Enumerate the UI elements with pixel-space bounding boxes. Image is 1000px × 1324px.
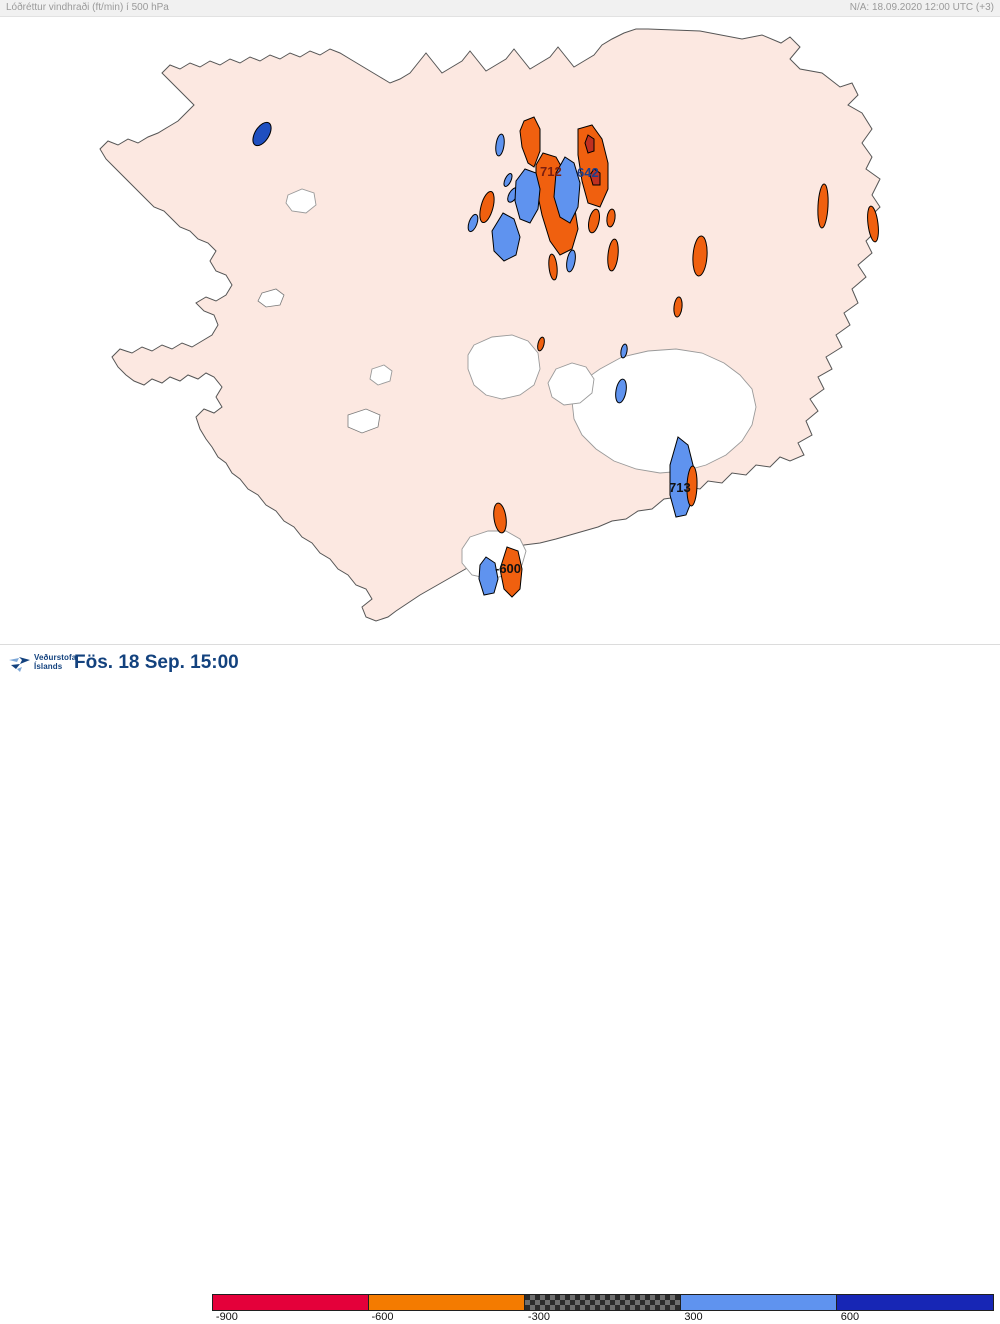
legend-tick-600: 600 [841, 1311, 859, 1323]
color-legend[interactable]: -900-600-300300600 [212, 1294, 994, 1322]
blob-label-m600: -600 [495, 561, 521, 576]
logo-text-line2: Íslands [34, 662, 76, 671]
legend-segment-band-lightblue [681, 1295, 837, 1310]
footer-bar: Veðurstofa Íslands Fös. 18 Sep. 15:00 -9… [0, 644, 1000, 680]
legend-tick-labels: -900-600-300300600 [212, 1311, 994, 1324]
forecast-datetime: Fös. 18 Sep. 15:00 [74, 652, 239, 674]
header-bar: Lóðréttur vindhraði (ft/min) í 500 hPa N… [0, 0, 1000, 17]
legend-segment-band-red [213, 1295, 369, 1310]
legend-tick-300: 300 [684, 1311, 702, 1323]
legend-tick-neg900: -900 [216, 1311, 238, 1323]
logo-text: Veðurstofa Íslands [34, 653, 76, 671]
logo-text-line1: Veðurstofa [34, 653, 76, 662]
legend-segment-band-darkblue [837, 1295, 993, 1310]
blob-label-642: 642 [577, 165, 599, 180]
legend-segment-band-orange [369, 1295, 525, 1310]
blob-label-713: 713 [669, 480, 691, 495]
wind-arrow-icon [8, 655, 32, 673]
weather-map[interactable]: 712 642 713 -600 [0, 17, 1000, 644]
legend-segment-band-transparent [525, 1295, 681, 1310]
legend-color-bar [212, 1294, 994, 1311]
legend-tick-neg600: -600 [372, 1311, 394, 1323]
valid-time-label: N/A: 18.09.2020 12:00 UTC (+3) [850, 2, 994, 13]
vedurstofa-logo[interactable]: Veðurstofa Íslands [8, 651, 84, 675]
blob-label-712: 712 [540, 164, 562, 179]
page-title: Lóðréttur vindhraði (ft/min) í 500 hPa [6, 2, 169, 13]
legend-tick-neg300: -300 [528, 1311, 550, 1323]
